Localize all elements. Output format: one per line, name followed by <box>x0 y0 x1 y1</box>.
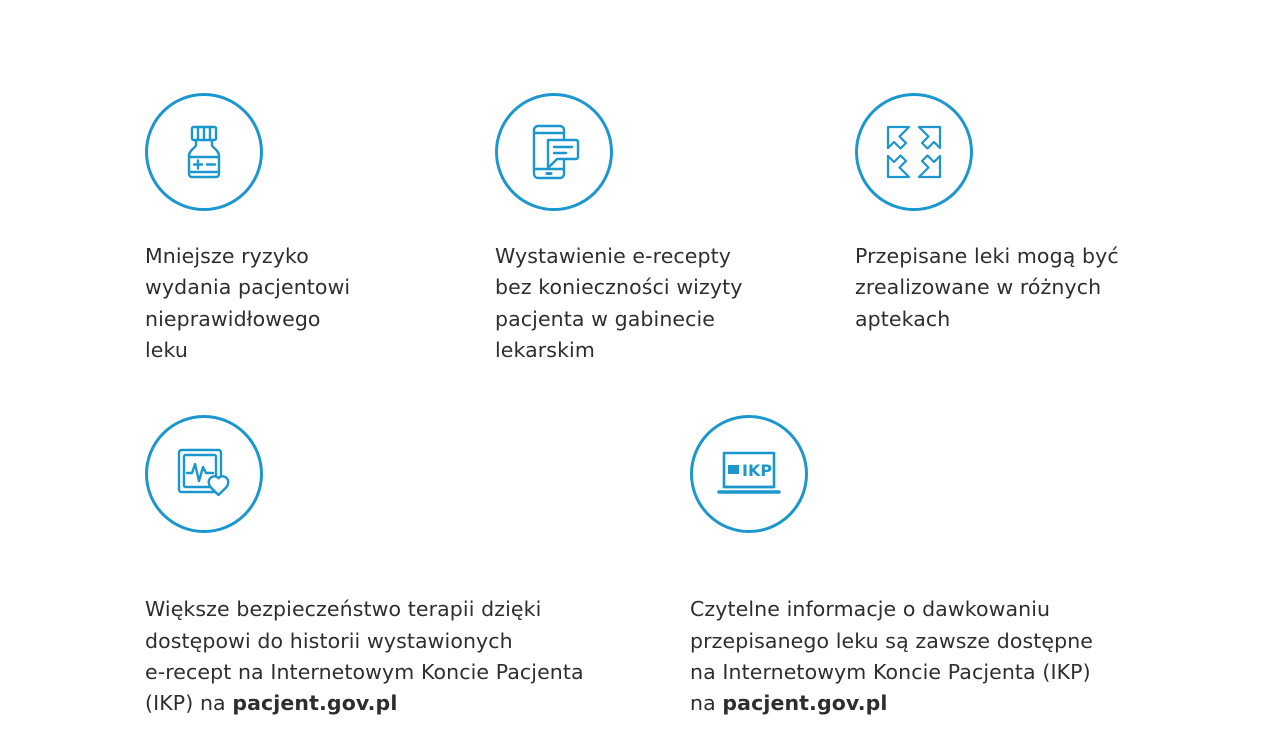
medicine-bottle-icon-circle <box>145 93 263 211</box>
pacjent-gov-pl-link[interactable]: pacjent.gov.pl <box>232 691 397 715</box>
four-arrows-outward-icon-circle <box>855 93 973 211</box>
feature-text: Wystawienie e-recepty bez konieczności w… <box>495 241 825 366</box>
smartphone-message-icon <box>521 119 587 185</box>
feature-text: Większe bezpieczeństwo terapii dzięki do… <box>145 563 665 720</box>
ecg-monitor-heart-icon <box>171 441 237 507</box>
smartphone-message-icon-circle <box>495 93 613 211</box>
feature-card-mniejsze-ryzyko: Mniejsze ryzyko wydania pacjentowi niepr… <box>145 93 475 366</box>
pacjent-gov-pl-link[interactable]: pacjent.gov.pl <box>722 691 887 715</box>
laptop-ikp-icon-circle: IKP <box>690 415 808 533</box>
feature-text: Przepisane leki mogą być zrealizowane w … <box>855 241 1185 335</box>
feature-text: Czytelne informacje o dawkowaniu przepis… <box>690 563 1150 720</box>
ecg-monitor-heart-icon-circle <box>145 415 263 533</box>
four-arrows-outward-icon <box>881 119 947 185</box>
feature-card-wieksze-bezpieczenstwo: Większe bezpieczeństwo terapii dzięki do… <box>145 415 665 720</box>
feature-text: Mniejsze ryzyko wydania pacjentowi niepr… <box>145 241 475 366</box>
feature-card-wystawienie-e-recepty: Wystawienie e-recepty bez konieczności w… <box>495 93 825 366</box>
feature-card-czytelne-informacje: IKP Czytelne informacje o dawkowaniu prz… <box>690 415 1150 720</box>
laptop-ikp-icon: IKP <box>714 439 784 509</box>
benefits-infographic: Mniejsze ryzyko wydania pacjentowi niepr… <box>0 0 1280 745</box>
laptop-screen-label: IKP <box>742 461 772 480</box>
medicine-bottle-icon <box>171 119 237 185</box>
feature-card-przepisane-leki: Przepisane leki mogą być zrealizowane w … <box>855 93 1185 335</box>
